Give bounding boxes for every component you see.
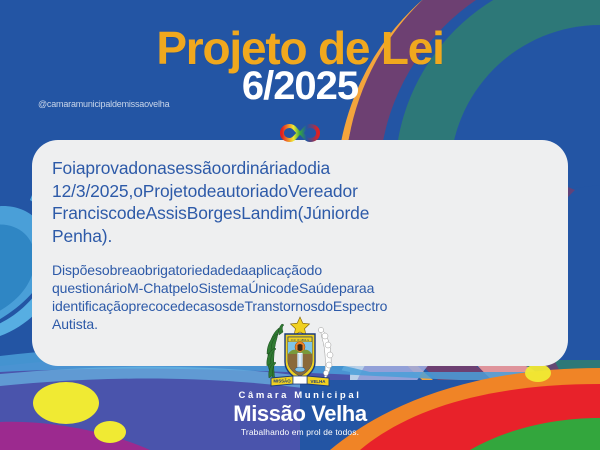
poster-header: @camaramunicipaldemissaovelha Projeto de… [0, 0, 600, 140]
bill-number: 6/2025 [0, 67, 600, 105]
footer-branding: Câmara Municipal Missão Velha Trabalhand… [0, 391, 600, 437]
crest-label-left: MISSÃO [273, 379, 291, 384]
p1-line-2: 12/3/2025,oProjetodeautoriadoVereador [52, 180, 548, 203]
p2-line-2: questionárioM-ChatpeloSistemaÚnicodeSaúd… [52, 279, 548, 297]
p1-line-1: Foiaprovadonasessãoordináriadodia [52, 157, 548, 180]
p2-line-3: identificaçãoprecocedecasosdeTranstornos… [52, 297, 548, 315]
coat-of-arms-icon: O.R. IX 1864-G MISSÃO VELHA [257, 316, 343, 390]
p2-line-1: Dispõesobreaobrigatoriedadedaaplicaçãodo [52, 261, 548, 279]
dot-right-small [525, 364, 551, 382]
poster-canvas: @camaramunicipaldemissaovelha Projeto de… [0, 0, 600, 450]
crest-label-right: VELHA [311, 379, 327, 384]
p1-line-3: FranciscodeAssisBorgesLandim(Júniorde [52, 202, 548, 225]
org-tagline: Trabalhando em prol de todos. [0, 427, 600, 437]
org-line-2: Missão Velha [0, 402, 600, 426]
neurodiversity-infinity-icon [278, 121, 322, 145]
org-line-1: Câmara Municipal [0, 391, 600, 401]
p1-line-4: Penha). [52, 225, 548, 248]
paragraph-approval: Foiaprovadonasessãoordináriadodia 12/3/2… [52, 157, 548, 248]
title-block: Projeto de Lei 6/2025 [0, 26, 600, 105]
